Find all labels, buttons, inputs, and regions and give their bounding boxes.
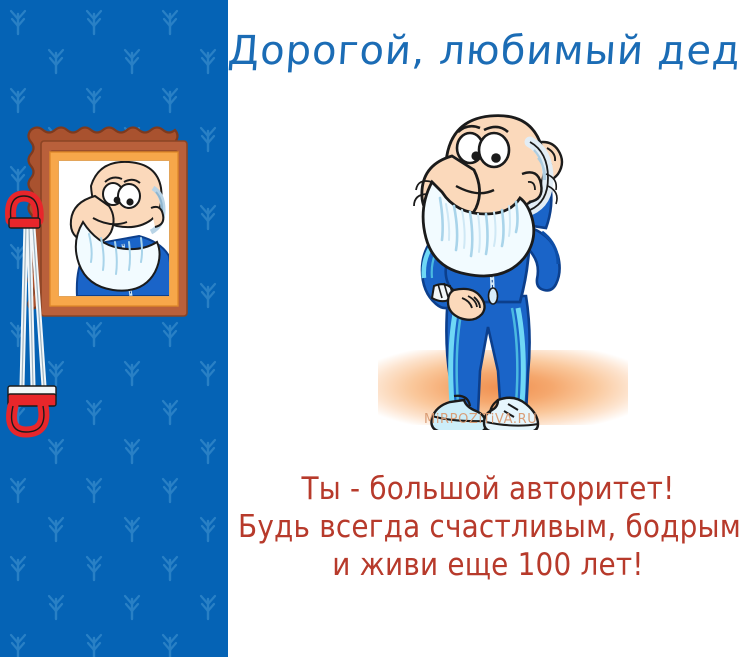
portrait-photo (59, 161, 175, 296)
red-chest-expander (0, 190, 72, 440)
page-title: Дорогой, любимый дед! (226, 28, 742, 74)
message-line-1: Ты - большой авторитет! (238, 470, 738, 508)
greeting-card: Дорогой, любимый дед! (0, 0, 742, 657)
expander-springs (22, 224, 44, 386)
message-line-2: Будь всегда счастливым, бодрым (238, 508, 738, 546)
watermark-text: MiRPOZiTiVA.RU (424, 412, 537, 427)
message-line-3: и живи еще 100 лет! (238, 546, 738, 584)
expander-bottom-handle (8, 386, 56, 432)
expander-top-handle (9, 196, 40, 228)
message-block: Ты - большой авторитет! Будь всегда счас… (238, 470, 738, 584)
left-blue-panel (0, 0, 228, 657)
grandfather-flexing-illustration (370, 100, 630, 430)
